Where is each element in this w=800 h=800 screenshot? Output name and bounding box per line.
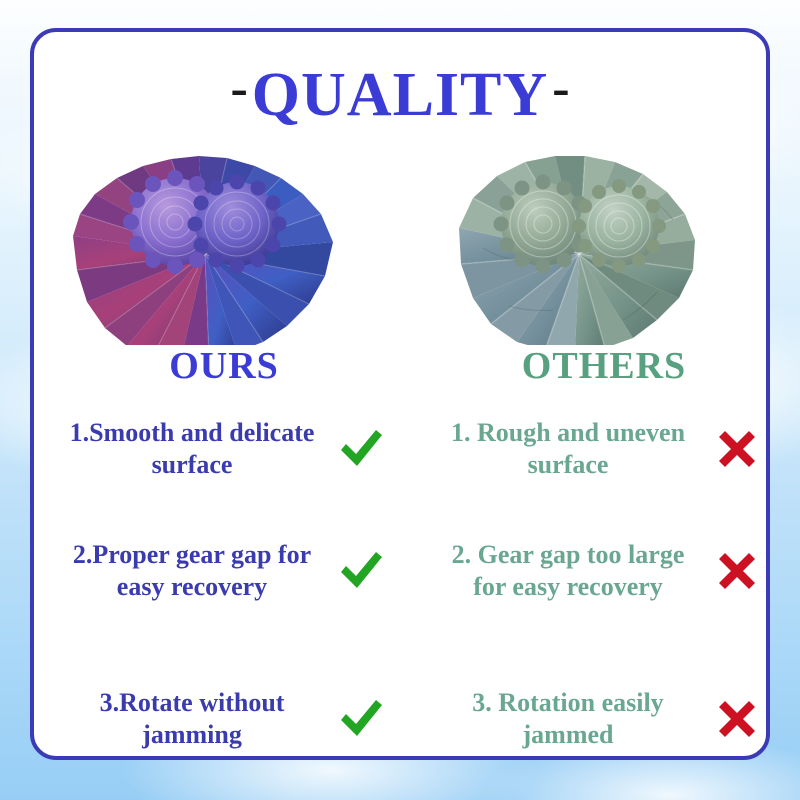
title-dash-left: - <box>230 63 247 115</box>
gear-toy-ours-illustration <box>60 150 350 345</box>
comparison-cell-others: 3. Rotation easily jammed <box>432 680 800 758</box>
infographic-page: - QUALITY - <box>0 0 800 800</box>
cross-icon <box>704 428 770 470</box>
column-heading-ours: OURS <box>34 347 414 387</box>
column-headings-row: OURS OTHERS <box>34 347 766 393</box>
cross-icon <box>704 550 770 592</box>
check-icon <box>328 697 394 741</box>
check-icon <box>328 549 394 593</box>
comparison-cell-ours: 3.Rotate without jamming <box>56 680 426 758</box>
product-images-row <box>34 150 766 345</box>
feature-text-ours: 1.Smooth and delicate surface <box>56 417 328 480</box>
comparison-cell-others: 1. Rough and uneven surface <box>432 410 800 488</box>
gear-toy-others-illustration <box>434 150 724 345</box>
title-label: QUALITY <box>252 64 548 126</box>
comparison-cell-ours: 1.Smooth and delicate surface <box>56 410 426 488</box>
page-title: - QUALITY - <box>34 64 766 126</box>
cross-icon <box>704 698 770 740</box>
product-image-others <box>434 150 724 345</box>
column-heading-others: OTHERS <box>414 347 794 387</box>
comparison-card: - QUALITY - <box>30 28 770 760</box>
feature-text-others: 2. Gear gap too large for easy recovery <box>432 539 704 602</box>
comparison-cell-others: 2. Gear gap too large for easy recovery <box>432 532 800 610</box>
comparison-row: 3.Rotate without jamming 3. Rotation eas… <box>34 680 766 758</box>
comparison-row: 1.Smooth and delicate surface 1. Rough a… <box>34 410 766 488</box>
product-image-ours <box>60 150 350 345</box>
feature-text-others: 3. Rotation easily jammed <box>432 687 704 750</box>
feature-text-others: 1. Rough and uneven surface <box>432 417 704 480</box>
feature-text-ours: 3.Rotate without jamming <box>56 687 328 750</box>
check-icon <box>328 427 394 471</box>
feature-text-ours: 2.Proper gear gap for easy recovery <box>56 539 328 602</box>
comparison-cell-ours: 2.Proper gear gap for easy recovery <box>56 532 426 610</box>
title-dash-right: - <box>552 63 569 115</box>
comparison-row: 2.Proper gear gap for easy recovery 2. G… <box>34 532 766 610</box>
